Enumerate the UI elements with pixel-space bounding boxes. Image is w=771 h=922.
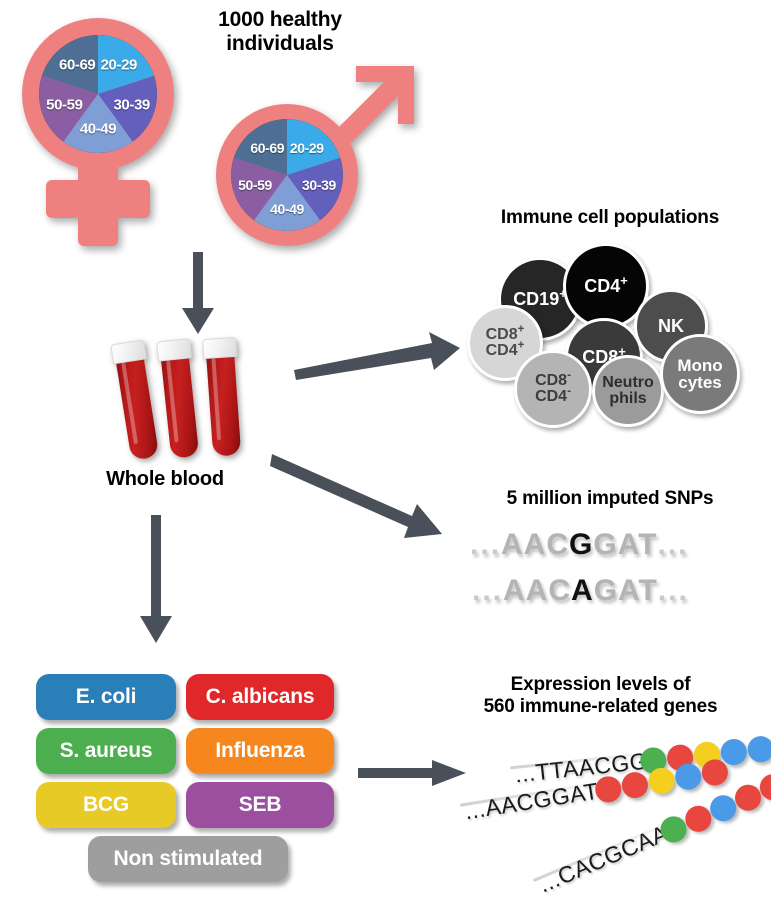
- age-segment-label-20-29: 20-29: [101, 57, 137, 74]
- immune-section-title: Immune cell populations: [450, 207, 770, 229]
- whole-blood-label: Whole blood: [70, 468, 260, 491]
- snp-sequence-row: ...AACGGAT...: [470, 528, 688, 562]
- immune-cell-cd8: CD8+: [565, 318, 643, 396]
- gene-expression-dot: [681, 802, 715, 836]
- stimulus-non-stimulated[interactable]: Non stimulated: [88, 836, 288, 882]
- stimulus-influenza[interactable]: Influenza: [186, 728, 334, 774]
- expression-section-title: Expression levels of560 immune-related g…: [430, 674, 771, 718]
- snp-ellipsis-left: ...: [470, 528, 501, 561]
- tube-cap: [156, 338, 192, 361]
- stimulus-c-albicans[interactable]: C. albicans: [186, 674, 334, 720]
- immune-cell-neutrophils: Neutrophils: [592, 355, 664, 427]
- strand-sequence-text: ...AACGGAT: [463, 778, 600, 826]
- age-segment-label-60-69: 60-69: [250, 140, 284, 156]
- snp-suffix: GAT: [594, 574, 658, 607]
- immune-cell-cd19: CD19+: [498, 257, 582, 341]
- gene-expression-dot: [720, 738, 749, 767]
- gene-expression-dot: [656, 812, 690, 846]
- snp-sequence-row: ...AACAGAT...: [472, 574, 689, 608]
- gene-expression-dot: [706, 791, 740, 825]
- immune-cell-label: CD19+: [513, 290, 567, 308]
- gene-expression-dot: [756, 770, 771, 804]
- female-symbol: 20-2930-3940-4950-5960-69: [8, 12, 188, 252]
- age-segment-label-30-39: 30-39: [302, 177, 336, 193]
- stimulus-label: Non stimulated: [114, 847, 263, 871]
- age-segment-label-60-69: 60-69: [59, 57, 95, 74]
- snp-ellipsis-left: ...: [472, 574, 503, 607]
- snp-variant-base: A: [571, 574, 594, 607]
- immune-cell-label: CD8-CD4-: [535, 373, 571, 406]
- stimulus-label: Influenza: [215, 739, 304, 763]
- age-segment-label-50-59: 50-59: [238, 177, 272, 193]
- snp-prefix: AAC: [501, 528, 569, 561]
- snp-sequences: ...AACGGAT......AACAGAT...: [470, 528, 760, 620]
- blood-tube: [202, 337, 244, 457]
- arrow-blood-to-stimuli: [136, 515, 176, 645]
- gene-expression-dot: [693, 741, 722, 770]
- tube-cap: [202, 337, 237, 359]
- stimulus-seb[interactable]: SEB: [186, 782, 334, 828]
- immune-cell-cd4: CD4+: [563, 243, 649, 329]
- age-segment-label-30-39: 30-39: [113, 96, 149, 113]
- gene-expression-dot: [700, 758, 730, 788]
- figure-canvas: 1000 healthyindividuals 20-2930-3940-495…: [0, 0, 771, 922]
- immune-cell-cd8cd4dn: CD8-CD4-: [514, 350, 592, 428]
- gene-expression-dot: [593, 774, 623, 804]
- stimulus-e-coli[interactable]: E. coli: [36, 674, 176, 720]
- strand-sequence-text: ...CACGCAA: [535, 820, 673, 899]
- snp-variant-base: G: [569, 528, 593, 561]
- blood-tube: [110, 339, 162, 461]
- age-segment-label-50-59: 50-59: [46, 96, 82, 113]
- gene-expression-dot: [673, 762, 703, 792]
- arrow-individuals-to-blood: [178, 252, 218, 336]
- snp-prefix: AAC: [503, 574, 571, 607]
- gene-expression-dot: [620, 770, 650, 800]
- strand-sequence-text: ...TTAACGG: [514, 748, 650, 789]
- stimulus-label: E. coli: [76, 685, 136, 709]
- gene-expression-dot: [746, 735, 771, 764]
- stimulus-label: SEB: [239, 793, 282, 817]
- snp-section-title: 5 million imputed SNPs: [450, 488, 770, 510]
- gene-expression-dot: [647, 766, 677, 796]
- age-segment-label-40-49: 40-49: [270, 201, 304, 217]
- immune-cell-label: CD4+: [584, 277, 628, 295]
- gene-expression-dot: [639, 746, 668, 775]
- immune-cell-cd8cd4dp: CD8+CD4+: [467, 305, 543, 381]
- arrow-stimuli-to-expression: [358, 756, 468, 790]
- strand-backbone: [460, 782, 597, 807]
- strand-backbone: [510, 753, 642, 770]
- stimulus-label: C. albicans: [206, 685, 315, 709]
- page-title: 1000 healthyindividuals: [170, 8, 390, 56]
- stimulus-label: S. aureus: [60, 739, 153, 763]
- male-age-pie: 20-2930-3940-4950-5960-69: [231, 119, 343, 231]
- blood-tube: [156, 338, 202, 459]
- immune-cell-label: Neutrophils: [602, 375, 654, 408]
- stimulus-s-aureus[interactable]: S. aureus: [36, 728, 176, 774]
- immune-cell-monocytes: Monocytes: [660, 334, 740, 414]
- female-age-pie: 20-2930-3940-4950-5960-69: [39, 35, 157, 153]
- age-segment-label-20-29: 20-29: [290, 140, 324, 156]
- snp-ellipsis-right: ...: [658, 574, 689, 607]
- stimulus-label: BCG: [83, 793, 129, 817]
- female-stem-horizontal: [46, 180, 150, 218]
- immune-cell-label: CD8+: [582, 348, 626, 366]
- immune-cell-label: NK: [658, 317, 684, 335]
- gene-expression-dot: [731, 781, 765, 815]
- gene-expression-dot: [666, 743, 695, 772]
- immune-cell-nk: NK: [634, 289, 708, 363]
- arrow-blood-to-snp: [270, 450, 445, 545]
- age-segment-label-40-49: 40-49: [80, 121, 116, 138]
- stimulus-bcg[interactable]: BCG: [36, 782, 176, 828]
- strand-backbone: [533, 825, 661, 882]
- immune-cell-label: Monocytes: [677, 357, 722, 392]
- arrow-blood-to-immune: [292, 330, 462, 380]
- male-symbol: 20-2930-3940-4950-5960-69: [200, 60, 430, 255]
- immune-cell-label: CD8+CD4+: [486, 327, 525, 360]
- snp-ellipsis-right: ...: [657, 528, 688, 561]
- snp-suffix: GAT: [593, 528, 657, 561]
